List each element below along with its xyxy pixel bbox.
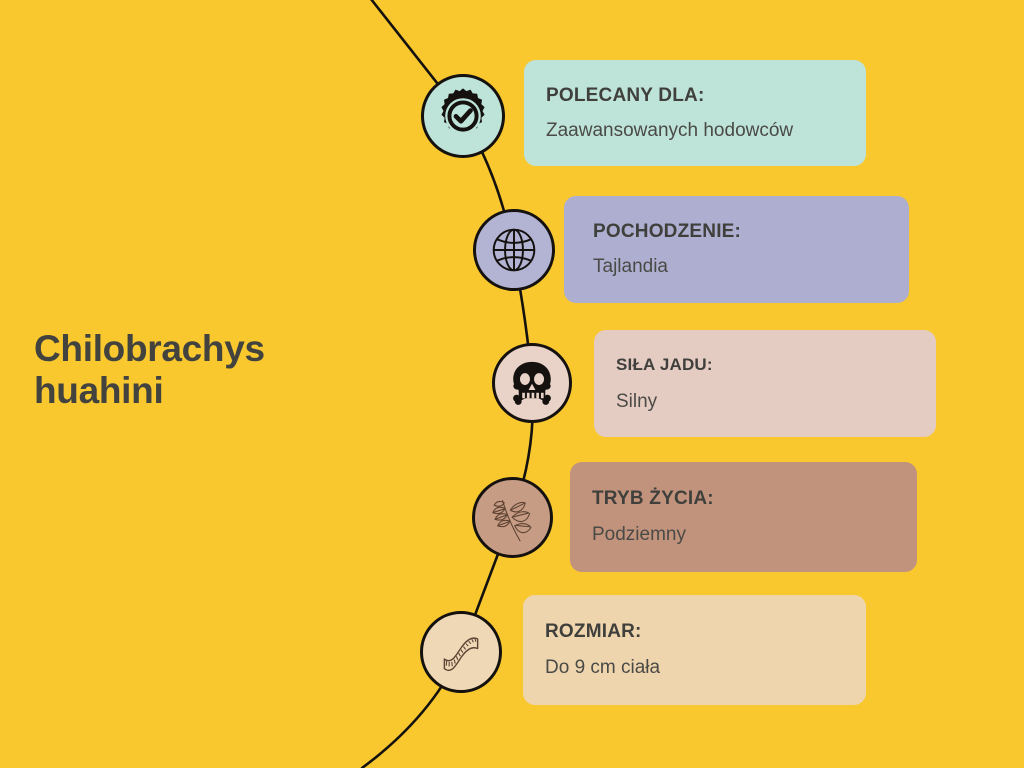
info-card-sila-jadu: SIŁA JADU: Silny xyxy=(594,330,936,437)
icon-node-rozmiar xyxy=(420,611,502,693)
info-card-label: TRYB ŻYCIA: xyxy=(592,488,895,510)
info-card-label: ROZMIAR: xyxy=(545,621,844,643)
info-card-tryb-zycia: TRYB ŻYCIA: Podziemny xyxy=(570,462,917,572)
verified-badge-check-icon xyxy=(433,86,493,146)
info-card-rozmiar: ROZMIAR: Do 9 cm ciała xyxy=(523,595,866,705)
infographic-canvas: Chilobrachys huahini POLECANY DLA: Zaawa… xyxy=(0,0,1024,768)
info-card-polecany-dla: POLECANY DLA: Zaawansowanych hodowców xyxy=(524,60,866,166)
info-card-pochodzenie: POCHODZENIE: Tajlandia xyxy=(564,196,909,303)
flexible-ruler-icon xyxy=(433,624,489,680)
icon-node-pochodzenie xyxy=(473,209,555,291)
icon-node-sila-jadu xyxy=(492,343,572,423)
globe-icon xyxy=(488,224,540,276)
info-card-value: Zaawansowanych hodowców xyxy=(546,120,844,142)
info-card-value: Do 9 cm ciała xyxy=(545,657,844,679)
page-title: Chilobrachys huahini xyxy=(34,328,354,412)
info-card-value: Podziemny xyxy=(592,524,895,546)
title-species: huahini xyxy=(34,370,354,412)
icon-node-polecany-dla xyxy=(421,74,505,158)
info-card-label: POCHODZENIE: xyxy=(593,221,880,243)
info-card-label: SIŁA JADU: xyxy=(616,355,914,375)
leaves-icon xyxy=(485,490,541,546)
icon-node-tryb-zycia xyxy=(472,477,553,558)
skull-crossbones-icon xyxy=(507,358,557,408)
info-card-value: Tajlandia xyxy=(593,256,880,278)
info-card-label: POLECANY DLA: xyxy=(546,85,844,107)
title-genus: Chilobrachys xyxy=(34,328,354,370)
info-card-value: Silny xyxy=(616,391,914,413)
